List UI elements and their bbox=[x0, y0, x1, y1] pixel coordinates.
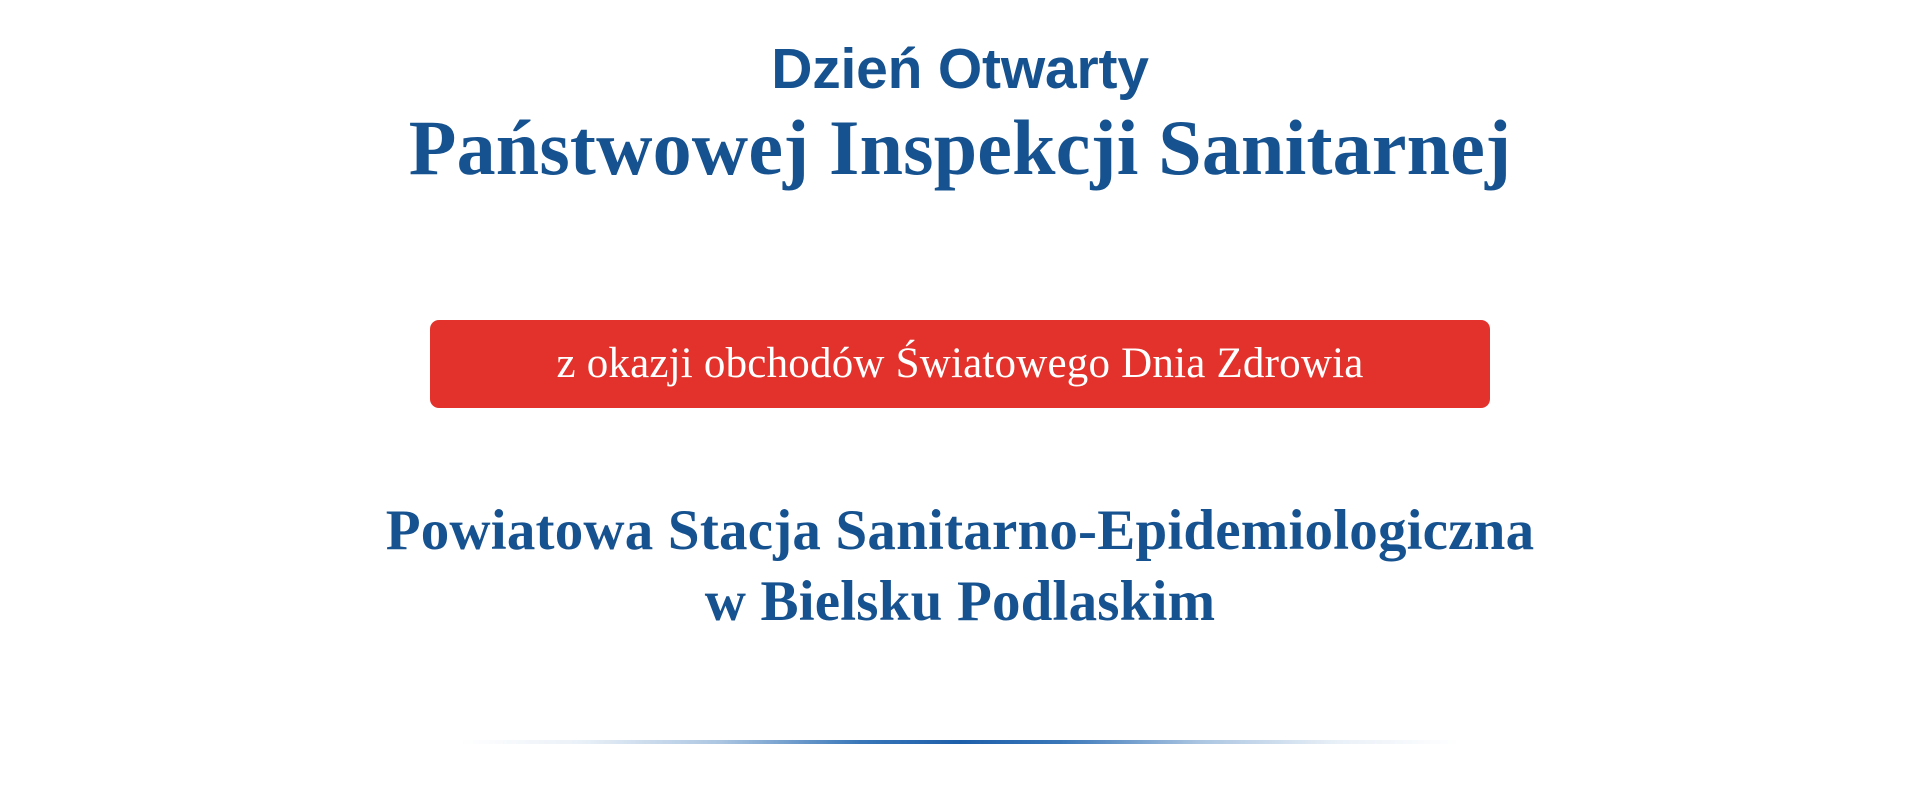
occasion-badge-label: z okazji obchodów Światowego Dnia Zdrowi… bbox=[556, 339, 1363, 389]
poster-page: Dzień Otwarty Państwowej Inspekcji Sanit… bbox=[0, 0, 1920, 810]
main-heading: Dzień Otwarty Państwowej Inspekcji Sanit… bbox=[0, 36, 1920, 194]
station-name-block: Powiatowa Stacja Sanitarno-Epidemiologic… bbox=[0, 495, 1920, 637]
heading-line-secondary: Państwowej Inspekcji Sanitarnej bbox=[0, 102, 1920, 194]
badge-row: z okazji obchodów Światowego Dnia Zdrowi… bbox=[0, 320, 1920, 408]
gradient-divider bbox=[460, 740, 1460, 744]
station-name-line-2: w Bielsku Podlaskim bbox=[0, 566, 1920, 637]
heading-line-primary: Dzień Otwarty bbox=[0, 36, 1920, 102]
divider-wrap bbox=[0, 740, 1920, 744]
occasion-badge[interactable]: z okazji obchodów Światowego Dnia Zdrowi… bbox=[430, 320, 1490, 408]
station-name-line-1: Powiatowa Stacja Sanitarno-Epidemiologic… bbox=[0, 495, 1920, 566]
